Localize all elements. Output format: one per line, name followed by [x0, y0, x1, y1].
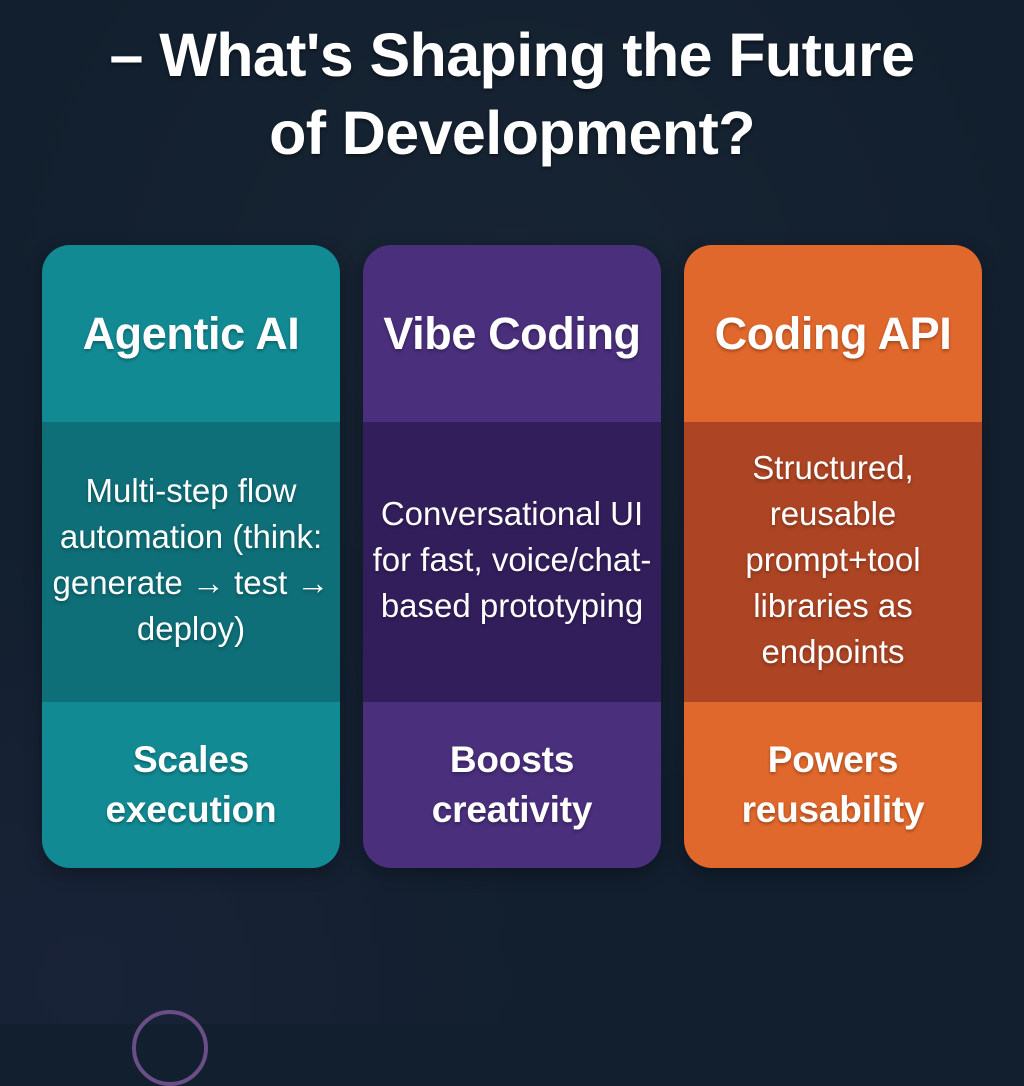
card-vibe-coding[interactable]: Vibe Coding Conversational UI for fast, … — [363, 245, 661, 868]
card-coding-api-footer: Powers reusability — [684, 702, 982, 868]
card-vibe-coding-description: Conversational UI for fast, voice/chat-b… — [371, 491, 653, 629]
card-vibe-coding-body: Conversational UI for fast, voice/chat-b… — [363, 422, 661, 702]
card-vibe-coding-benefit: Boosts creativity — [373, 735, 651, 835]
page-title: – What's Shaping the Future of Developme… — [62, 16, 962, 172]
card-coding-api-benefit: Powers reusability — [694, 735, 972, 835]
card-coding-api-header: Coding API — [684, 245, 982, 422]
card-vibe-coding-heading: Vibe Coding — [383, 305, 640, 362]
card-vibe-coding-footer: Boosts creativity — [363, 702, 661, 868]
card-agentic-ai-heading: Agentic AI — [83, 305, 300, 362]
card-vibe-coding-header: Vibe Coding — [363, 245, 661, 422]
card-coding-api-heading: Coding API — [715, 305, 952, 362]
page-title-line-2: of Development? — [62, 94, 962, 172]
card-agentic-ai-description: Multi-step flow automation (think: gener… — [50, 468, 332, 652]
comparison-cards: Agentic AI Multi-step flow automation (t… — [42, 245, 982, 868]
card-agentic-ai-benefit: Scales execution — [52, 735, 330, 835]
card-coding-api-description: Structured, reusable prompt+tool librari… — [692, 445, 974, 675]
card-agentic-ai[interactable]: Agentic AI Multi-step flow automation (t… — [42, 245, 340, 868]
page-title-line-1: – What's Shaping the Future — [62, 16, 962, 94]
card-agentic-ai-body: Multi-step flow automation (think: gener… — [42, 422, 340, 702]
card-coding-api-body: Structured, reusable prompt+tool librari… — [684, 422, 982, 702]
card-agentic-ai-header: Agentic AI — [42, 245, 340, 422]
card-coding-api[interactable]: Coding API Structured, reusable prompt+t… — [684, 245, 982, 868]
decorative-circle — [132, 1010, 208, 1086]
card-agentic-ai-footer: Scales execution — [42, 702, 340, 868]
